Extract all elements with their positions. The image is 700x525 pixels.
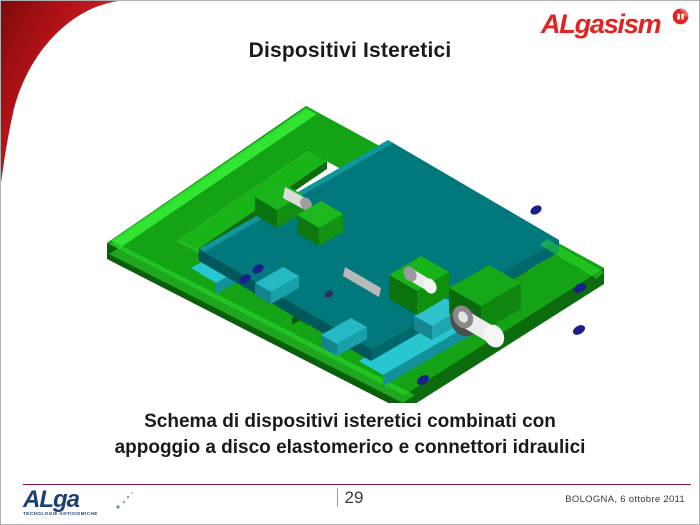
page-number: 29 [345, 488, 364, 508]
slide-canvas: Dispositivi Isteretici ALgasism [0, 0, 700, 525]
page-number-separator [337, 488, 338, 507]
caption-line-2: appoggio a disco elastomerico e connetto… [41, 435, 659, 461]
cad-render-figure [59, 83, 649, 403]
footer-location-date: BOLOGNA, 6 ottobre 2011 [565, 494, 685, 505]
footer-divider [23, 484, 691, 485]
slide-caption: Schema di dispositivi isteretici combina… [41, 409, 659, 461]
brand-logo: ALgasism [541, 7, 691, 41]
circular-seal-icon [672, 8, 689, 25]
caption-line-1: Schema di dispositivi isteretici combina… [41, 409, 659, 435]
slide-title: Dispositivi Isteretici [1, 39, 699, 63]
brand-logo-text: ALgasism [541, 9, 660, 39]
